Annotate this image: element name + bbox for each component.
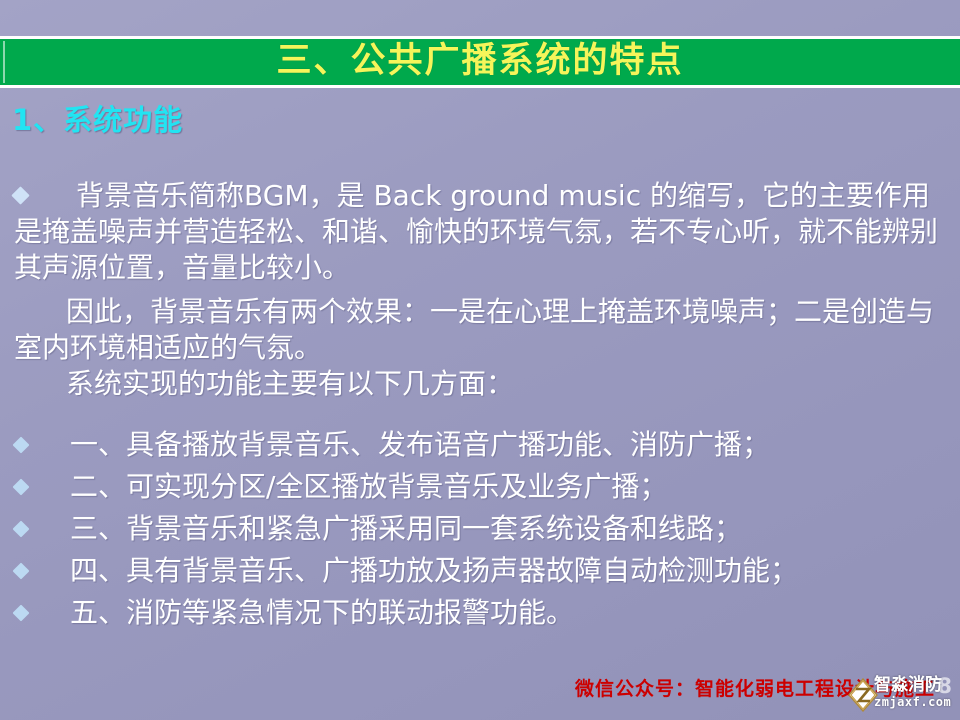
- diamond-bullet-icon: [13, 521, 30, 538]
- list-item-label: 三、背景音乐和紧急广播采用同一套系统设备和线路；: [70, 512, 742, 545]
- body-paragraph: 因此，背景音乐有两个效果：一是在心理上掩盖环境噪声；二是创造与室内环境相适应的气…: [0, 294, 960, 366]
- diamond-bullet-icon: [13, 437, 30, 454]
- diamond-bullet-icon: [13, 605, 30, 622]
- body-paragraph: 系统实现的功能主要有以下几方面：: [0, 366, 960, 402]
- list-item-label: 四、具有背景音乐、广播功放及扬声器故障自动检测功能；: [70, 554, 798, 587]
- slide-body: 背景音乐简称BGM，是 Back ground music 的缩写，它的主要作用…: [0, 178, 960, 402]
- feature-list: 一、具备播放背景音乐、发布语音广播功能、消防广播； 二、可实现分区/全区播放背景…: [0, 424, 960, 634]
- footer-note: 微信公众号：智能化弱电工程设计与施工: [0, 674, 935, 701]
- presentation-slide: 三、公共广播系统的特点 1、系统功能 背景音乐简称BGM，是 Back grou…: [0, 0, 960, 720]
- body-paragraph-text: 系统实现的功能主要有以下几方面：: [14, 366, 946, 402]
- body-paragraph-text: 因此，背景音乐有两个效果：一是在心理上掩盖环境噪声；二是创造与室内环境相适应的气…: [14, 294, 946, 366]
- diamond-bullet-icon: [13, 563, 30, 580]
- list-item: 五、消防等紧急情况下的联动报警功能。: [0, 592, 960, 634]
- diamond-bullet-icon: [13, 479, 30, 496]
- page-number: 8: [937, 676, 952, 697]
- section-heading: 1、系统功能: [12, 106, 183, 135]
- page-title: 三、公共广播系统的特点: [276, 44, 683, 81]
- list-item-label: 二、可实现分区/全区播放背景音乐及业务广播；: [70, 470, 667, 503]
- list-item: 四、具有背景音乐、广播功放及扬声器故障自动检测功能；: [0, 550, 960, 592]
- list-item-label: 一、具备播放背景音乐、发布语音广播功能、消防广播；: [70, 428, 770, 461]
- list-item: 一、具备播放背景音乐、发布语音广播功能、消防广播；: [0, 424, 960, 466]
- body-paragraph: 背景音乐简称BGM，是 Back ground music 的缩写，它的主要作用…: [0, 178, 960, 286]
- body-paragraph-text: 背景音乐简称BGM，是 Back ground music 的缩写，它的主要作用…: [14, 178, 946, 286]
- list-item: 二、可实现分区/全区播放背景音乐及业务广播；: [0, 466, 960, 508]
- list-item: 三、背景音乐和紧急广播采用同一套系统设备和线路；: [0, 508, 960, 550]
- paragraph-spacer: [0, 286, 960, 294]
- slide-title-banner: 三、公共广播系统的特点: [0, 36, 960, 88]
- list-item-label: 五、消防等紧急情况下的联动报警功能。: [70, 596, 574, 629]
